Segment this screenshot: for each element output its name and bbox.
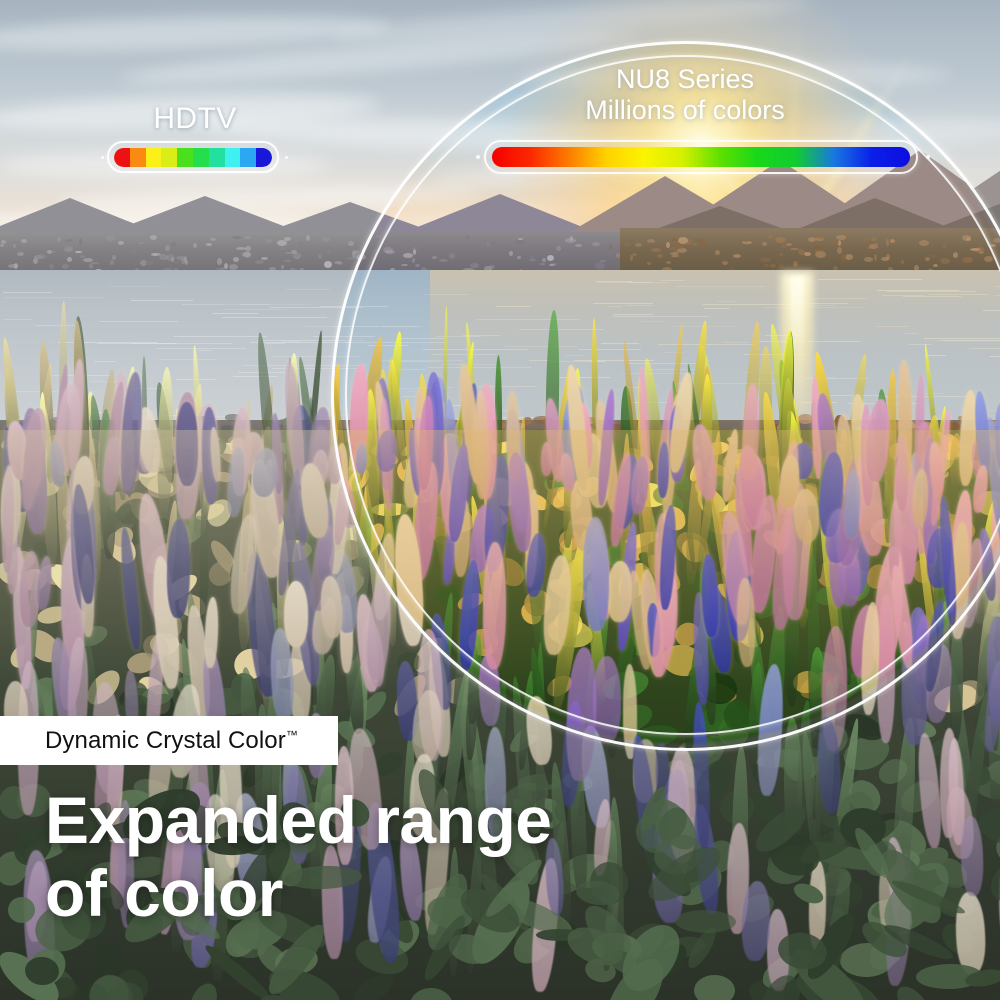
rock-texture-74 — [255, 260, 264, 264]
water-ripple-101 — [423, 349, 528, 350]
rock-texture-143 — [623, 243, 631, 246]
water-ripple-57 — [97, 343, 177, 344]
rock-texture-130 — [814, 250, 823, 252]
rock-texture-68 — [933, 264, 938, 267]
rock-texture-199 — [540, 263, 545, 265]
water-ripple-86 — [612, 316, 709, 317]
rock-texture-34 — [815, 251, 826, 258]
rock-texture-186 — [334, 261, 342, 264]
rock-texture-189 — [110, 260, 114, 265]
hdtv-color-segment-7 — [209, 148, 225, 167]
water-ripple-102 — [717, 301, 737, 302]
rock-texture-43 — [587, 239, 592, 242]
rock-texture-79 — [206, 243, 212, 246]
water-ripple-87 — [622, 373, 704, 374]
rock-texture-59 — [962, 257, 973, 263]
water-ripple-150 — [658, 344, 755, 345]
water-ripple-64 — [286, 289, 330, 290]
rock-texture-187 — [925, 257, 930, 261]
water-ripple-132 — [265, 343, 285, 344]
rock-texture-44 — [281, 265, 284, 269]
rock-texture-113 — [244, 236, 251, 239]
rock-texture-180 — [798, 249, 805, 255]
water-ripple-53 — [174, 336, 267, 337]
water-ripple-142 — [661, 280, 685, 281]
rock-texture-244 — [14, 263, 18, 269]
rock-texture-214 — [651, 248, 661, 252]
water-ripple-77 — [233, 376, 277, 377]
rock-texture-260 — [600, 260, 606, 262]
rock-texture-252 — [990, 244, 996, 247]
water-ripple-13 — [989, 356, 1000, 357]
rock-texture-248 — [813, 245, 822, 250]
rock-texture-88 — [845, 236, 850, 243]
water-ripple-41 — [723, 342, 749, 343]
rock-texture-231 — [875, 243, 878, 245]
rock-texture-242 — [292, 254, 302, 257]
nu8-label: NU8 Series Millions of colors — [415, 64, 955, 126]
nu8-track-dot-right — [926, 155, 930, 159]
rock-texture-145 — [439, 259, 448, 262]
rock-texture-165 — [529, 259, 536, 261]
rock-texture-103 — [322, 237, 330, 242]
water-ripple-91 — [909, 344, 931, 345]
rock-texture-234 — [779, 263, 784, 268]
rock-texture-50 — [348, 241, 354, 246]
rock-texture-64 — [150, 235, 157, 240]
rock-texture-195 — [79, 238, 82, 245]
water-ripple-98 — [640, 321, 666, 322]
rock-texture-162 — [236, 247, 246, 250]
rock-texture-178 — [715, 250, 720, 255]
rock-texture-237 — [327, 249, 331, 255]
water-ripple-106 — [382, 326, 416, 327]
rock-texture-6 — [217, 258, 222, 265]
water-ripple-2 — [905, 333, 918, 334]
rock-texture-184 — [575, 244, 582, 247]
water-ripple-43 — [609, 306, 622, 307]
water-ripple-143 — [334, 340, 364, 341]
rock-texture-175 — [943, 243, 946, 249]
lupine-flower-spike-241 — [940, 728, 959, 838]
rock-texture-122 — [67, 257, 72, 262]
rock-texture-245 — [412, 247, 418, 250]
rock-texture-251 — [549, 264, 555, 266]
water-ripple-22 — [579, 349, 641, 350]
rock-texture-121 — [647, 262, 651, 265]
rock-texture-24 — [845, 254, 853, 260]
water-ripple-123 — [131, 300, 193, 301]
rock-texture-254 — [165, 245, 170, 251]
water-ripple-116 — [674, 286, 765, 287]
rock-texture-48 — [465, 235, 470, 239]
rock-texture-221 — [647, 239, 655, 243]
water-ripple-58 — [222, 309, 282, 310]
water-ripple-16 — [703, 304, 792, 305]
water-ripple-138 — [613, 314, 653, 315]
rock-texture-139 — [871, 237, 877, 241]
water-ripple-34 — [505, 346, 577, 347]
rock-texture-213 — [412, 258, 415, 263]
rock-texture-230 — [901, 260, 904, 264]
water-ripple-141 — [625, 363, 702, 364]
nu8-label-line-2: Millions of colors — [415, 95, 955, 126]
rock-texture-101 — [595, 262, 605, 269]
rock-texture-224 — [266, 239, 272, 243]
water-ripple-146 — [565, 355, 585, 356]
rock-texture-212 — [90, 262, 100, 264]
water-ripple-67 — [313, 336, 375, 337]
rock-texture-56 — [47, 250, 52, 254]
rock-texture-228 — [674, 244, 684, 249]
water-ripple-104 — [664, 352, 685, 353]
water-ripple-36 — [818, 279, 922, 280]
rock-texture-65 — [775, 237, 786, 243]
rock-texture-140 — [890, 239, 895, 243]
rock-texture-93 — [172, 260, 180, 264]
rock-texture-26 — [762, 242, 767, 246]
water-ripple-27 — [994, 295, 1000, 296]
water-ripple-131 — [903, 296, 961, 297]
brand-name-text: Dynamic Crystal Color — [45, 727, 286, 754]
brand-name: Dynamic Crystal Color™ — [45, 727, 298, 755]
rock-texture-116 — [881, 257, 889, 261]
rock-texture-194 — [1, 240, 6, 244]
rock-texture-157 — [666, 242, 670, 248]
rock-texture-222 — [966, 237, 971, 241]
rock-texture-95 — [171, 242, 176, 247]
rock-texture-188 — [401, 264, 408, 266]
rock-texture-219 — [324, 261, 332, 268]
rock-texture-123 — [779, 253, 783, 256]
rock-texture-177 — [542, 258, 546, 262]
water-ripple-5 — [995, 286, 1000, 287]
water-ripple-125 — [212, 313, 258, 314]
rock-texture-87 — [666, 261, 671, 264]
rock-texture-90 — [145, 261, 154, 265]
rock-texture-227 — [118, 241, 124, 245]
water-ripple-85 — [306, 326, 379, 327]
water-ripple-149 — [182, 304, 223, 305]
nu8-color-bar — [492, 147, 910, 167]
rock-texture-135 — [0, 244, 4, 247]
water-ripple-46 — [94, 361, 115, 362]
rock-texture-38 — [210, 238, 216, 241]
rock-texture-239 — [678, 237, 688, 244]
nu8-label-line-1: NU8 Series — [415, 64, 955, 95]
rock-texture-197 — [733, 254, 741, 258]
rock-texture-138 — [298, 241, 304, 247]
water-ripple-26 — [887, 291, 976, 292]
rock-texture-169 — [75, 251, 82, 253]
rock-texture-124 — [635, 243, 642, 247]
water-ripple-103 — [969, 348, 1000, 349]
rock-texture-21 — [919, 240, 929, 246]
water-ripple-147 — [496, 306, 531, 307]
rock-texture-174 — [874, 254, 877, 261]
hdtv-color-segment-2 — [130, 148, 146, 167]
water-ripple-118 — [763, 307, 864, 308]
headline: Expanded range of color — [45, 784, 665, 930]
field-warm-light — [0, 430, 1000, 690]
rock-texture-190 — [261, 257, 268, 260]
rock-texture-256 — [671, 255, 679, 257]
rock-texture-159 — [193, 243, 197, 248]
water-ripple-59 — [593, 303, 653, 304]
rock-texture-220 — [33, 258, 38, 264]
hdtv-color-segment-9 — [240, 148, 256, 167]
water-ripple-39 — [4, 297, 103, 298]
nu8-track-dot-left — [476, 155, 480, 159]
rock-texture-28 — [993, 238, 1000, 243]
rock-texture-57 — [722, 261, 728, 265]
water-ripple-6 — [160, 359, 216, 360]
rock-texture-151 — [863, 240, 871, 244]
water-ripple-7 — [269, 307, 363, 308]
rock-texture-255 — [515, 240, 525, 244]
hdtv-color-segment-1 — [114, 148, 130, 167]
rock-texture-118 — [674, 250, 679, 253]
rock-texture-77 — [841, 254, 846, 261]
water-ripple-136 — [109, 286, 162, 287]
rock-texture-37 — [565, 238, 576, 243]
hdtv-color-segment-3 — [146, 148, 162, 167]
rock-texture-61 — [804, 252, 811, 256]
rock-texture-96 — [49, 264, 54, 269]
rock-texture-150 — [232, 236, 242, 239]
rock-texture-119 — [817, 236, 826, 239]
water-ripple-62 — [924, 338, 1000, 339]
rock-texture-200 — [80, 255, 85, 258]
rock-texture-134 — [405, 239, 413, 243]
rock-texture-131 — [284, 260, 291, 262]
rock-texture-84 — [764, 264, 769, 267]
marketing-hero-image: HDTV NU8 Series Millions of colors Dynam… — [0, 0, 1000, 1000]
rock-texture-173 — [556, 246, 561, 251]
rock-texture-253 — [63, 243, 67, 249]
rock-texture-198 — [698, 242, 709, 245]
leaf-spray-75 — [694, 975, 735, 1000]
rock-texture-49 — [67, 246, 73, 249]
water-ripple-127 — [929, 294, 988, 295]
water-ripple-11 — [3, 319, 32, 320]
rock-texture-185 — [790, 248, 799, 250]
rock-texture-102 — [793, 261, 798, 267]
rock-texture-98 — [632, 253, 637, 256]
hdtv-track-dot-left — [101, 156, 104, 159]
water-ripple-82 — [811, 298, 866, 299]
rock-texture-71 — [138, 242, 144, 244]
rock-texture-235 — [760, 258, 771, 262]
water-ripple-33 — [938, 340, 1000, 341]
rock-texture-112 — [65, 239, 73, 242]
rock-texture-168 — [491, 242, 499, 246]
rock-texture-247 — [489, 265, 495, 269]
rock-texture-257 — [184, 256, 187, 262]
rock-texture-133 — [432, 256, 437, 259]
rock-texture-211 — [657, 254, 663, 258]
rock-texture-232 — [415, 264, 420, 267]
rock-texture-3 — [306, 235, 310, 241]
rock-texture-259 — [277, 240, 287, 246]
rock-texture-81 — [517, 256, 521, 259]
rock-texture-86 — [786, 243, 792, 246]
water-ripple-109 — [424, 294, 468, 295]
water-ripple-84 — [477, 319, 579, 320]
rock-texture-100 — [130, 248, 138, 254]
water-ripple-105 — [601, 343, 639, 344]
rock-texture-1 — [375, 235, 381, 238]
rock-texture-215 — [837, 247, 842, 254]
water-ripple-120 — [436, 336, 481, 337]
hdtv-color-bar — [114, 148, 272, 167]
water-ripple-51 — [257, 340, 345, 341]
rock-texture-149 — [979, 251, 984, 254]
rock-texture-97 — [106, 235, 116, 241]
headline-line-1: Expanded range — [45, 784, 665, 857]
water-ripple-78 — [983, 310, 1000, 311]
rock-texture-202 — [57, 237, 61, 242]
rock-texture-70 — [940, 258, 950, 264]
rock-texture-10 — [592, 242, 600, 246]
rock-texture-17 — [953, 252, 958, 258]
rock-texture-223 — [886, 239, 889, 246]
water-ripple-31 — [320, 306, 388, 307]
water-ripple-110 — [35, 325, 79, 326]
water-ripple-66 — [626, 305, 652, 306]
rock-texture-201 — [970, 248, 981, 251]
rock-texture-104 — [693, 243, 697, 246]
hdtv-track-dot-right — [285, 156, 288, 159]
rock-texture-163 — [828, 239, 839, 245]
rock-texture-171 — [770, 264, 776, 268]
rock-texture-80 — [547, 255, 554, 261]
rock-texture-83 — [403, 253, 413, 258]
rock-texture-110 — [984, 256, 993, 262]
trademark-symbol: ™ — [286, 728, 298, 742]
rock-texture-250 — [695, 238, 706, 242]
rock-texture-47 — [509, 251, 513, 256]
rock-texture-196 — [285, 252, 292, 254]
rock-texture-125 — [781, 245, 786, 248]
rock-texture-25 — [864, 257, 873, 262]
water-ripple-108 — [99, 321, 178, 322]
rock-texture-182 — [470, 262, 474, 266]
rock-texture-218 — [13, 244, 16, 248]
rock-texture-170 — [36, 254, 47, 259]
rock-texture-217 — [357, 259, 362, 262]
rock-texture-127 — [280, 247, 286, 250]
water-ripple-119 — [877, 326, 909, 327]
rock-texture-225 — [744, 238, 749, 243]
rock-texture-128 — [21, 239, 27, 243]
rock-texture-207 — [486, 241, 490, 247]
rock-texture-99 — [616, 253, 620, 258]
hdtv-color-segment-6 — [193, 148, 209, 167]
water-ripple-29 — [157, 348, 246, 349]
water-ripple-72 — [222, 304, 310, 305]
rock-texture-172 — [609, 243, 612, 250]
hdtv-color-segment-8 — [225, 148, 241, 167]
rock-texture-206 — [62, 264, 69, 269]
headline-line-2: of color — [45, 857, 665, 930]
water-ripple-79 — [519, 329, 604, 330]
water-ripple-65 — [368, 345, 408, 346]
rock-texture-60 — [233, 257, 239, 262]
rock-texture-204 — [224, 263, 228, 269]
water-ripple-63 — [198, 350, 212, 351]
water-ripple-42 — [222, 317, 327, 318]
hdtv-color-segment-5 — [177, 148, 193, 167]
water-ripple-40 — [704, 308, 729, 309]
water-ripple-18 — [432, 354, 496, 355]
hdtv-label: HDTV — [0, 102, 390, 136]
water-ripple-32 — [3, 292, 52, 293]
hdtv-color-segment-4 — [161, 148, 177, 167]
rock-texture-94 — [630, 255, 633, 261]
water-ripple-135 — [281, 341, 300, 342]
rock-texture-193 — [156, 254, 166, 256]
brand-banner: Dynamic Crystal Color™ — [0, 716, 338, 765]
rock-texture-5 — [930, 254, 936, 258]
rock-texture-216 — [768, 234, 773, 239]
rock-texture-209 — [244, 251, 251, 258]
rock-texture-147 — [385, 250, 395, 254]
rock-texture-243 — [449, 253, 455, 259]
rock-texture-233 — [583, 236, 588, 239]
rock-texture-240 — [17, 252, 24, 256]
water-ripple-4 — [400, 338, 445, 339]
water-ripple-61 — [627, 282, 651, 283]
